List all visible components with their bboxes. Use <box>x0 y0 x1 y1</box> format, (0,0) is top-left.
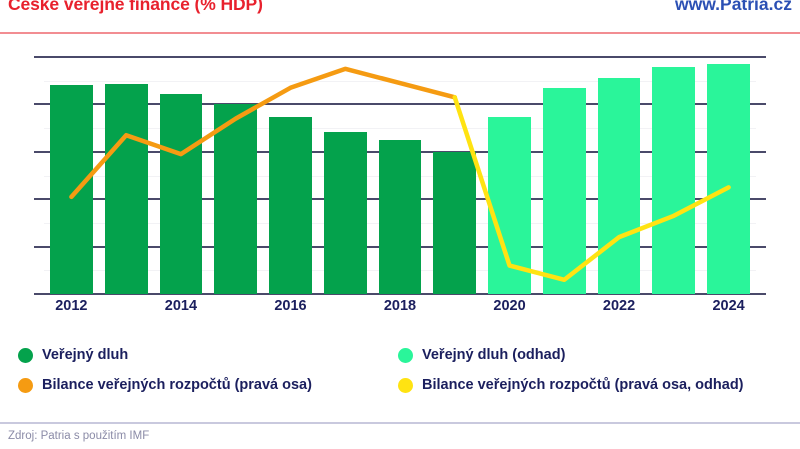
legend-balance-estimate[interactable]: Bilance veřejných rozpočtů (pravá osa, o… <box>398 377 744 393</box>
page-title: České veřejné finance (% HDP) <box>8 0 263 15</box>
right-axis-tick <box>756 151 766 153</box>
x-axis-tick-label: 2022 <box>603 298 635 314</box>
left-axis-tick <box>34 56 44 58</box>
right-axis-tick <box>756 103 766 105</box>
site-url: www.Patria.cz <box>675 0 792 15</box>
line-series-layer <box>44 57 756 294</box>
x-axis-tick-label: 2016 <box>274 298 306 314</box>
legend-label: Bilance veřejných rozpočtů (pravá osa) <box>42 377 312 393</box>
left-axis-tick <box>34 198 44 200</box>
x-axis-tick-label: 2014 <box>165 298 197 314</box>
footer-divider <box>0 422 800 424</box>
x-axis-tick-label: 2012 <box>55 298 87 314</box>
line-right-actual <box>71 69 454 197</box>
x-axis-tick-label: 2018 <box>384 298 416 314</box>
legend-swatch-icon <box>18 378 33 393</box>
chart-page: České veřejné finance (% HDP) www.Patria… <box>0 0 800 449</box>
left-axis-tick <box>34 103 44 105</box>
legend-label: Veřejný dluh <box>42 347 128 363</box>
left-axis-tick <box>34 151 44 153</box>
header-divider <box>0 32 800 34</box>
legend-swatch-icon <box>398 378 413 393</box>
x-axis: 2012201420162018202020222024 <box>44 298 756 322</box>
right-axis-tick <box>756 293 766 295</box>
chart-legend: Veřejný dluhVeřejný dluh (odhad)Bilance … <box>0 345 800 407</box>
legend-label: Veřejný dluh (odhad) <box>422 347 565 363</box>
line-right-estimate <box>455 97 729 279</box>
left-axis-tick <box>34 246 44 248</box>
left-axis-tick <box>34 293 44 295</box>
x-axis-tick-label: 2020 <box>493 298 525 314</box>
right-axis-tick <box>756 56 766 58</box>
legend-label: Bilance veřejných rozpočtů (pravá osa, o… <box>422 377 744 393</box>
legend-swatch-icon <box>398 348 413 363</box>
x-axis-tick-label: 2024 <box>712 298 744 314</box>
plot-canvas: 0,010,020,030,040,050,0 -8-7-6-5-4-3-2-1… <box>44 57 756 294</box>
legend-debt-actual[interactable]: Veřejný dluh <box>18 347 128 363</box>
right-axis-tick <box>756 198 766 200</box>
legend-debt-estimate[interactable]: Veřejný dluh (odhad) <box>398 347 565 363</box>
legend-balance-actual[interactable]: Bilance veřejných rozpočtů (pravá osa) <box>18 377 312 393</box>
source-note: Zdroj: Patria s použitím IMF <box>8 430 149 442</box>
chart-header: České veřejné finance (% HDP) www.Patria… <box>0 0 800 26</box>
legend-swatch-icon <box>18 348 33 363</box>
chart-plot-area: 0,010,020,030,040,050,0 -8-7-6-5-4-3-2-1… <box>0 40 800 340</box>
right-axis-tick <box>756 246 766 248</box>
